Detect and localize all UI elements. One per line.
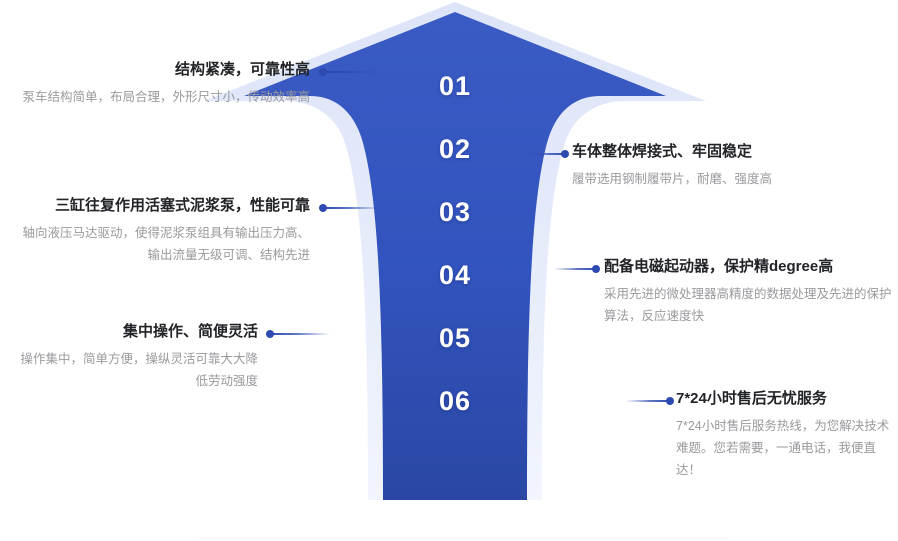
connector-dot xyxy=(319,68,327,76)
bottom-divider xyxy=(198,538,728,539)
step-number-06: 06 xyxy=(395,388,515,415)
feature-callout-04: 配备电磁起动器，保护精degree高 采用先进的微处理器高精度的数据处理及先进的… xyxy=(604,257,894,327)
feature-callout-01: 结构紧凑，可靠性高 泵车结构简单，布局合理，外形尺寸小，传动效率高 xyxy=(14,60,310,108)
feature-callout-06: 7*24小时售后无忧服务 7*24小时售后服务热线，为您解决技术难题。您若需要，… xyxy=(676,389,892,481)
feature-detail-03: 轴向液压马达驱动，使得泥浆泵组具有输出压力高、输出流量无级可调、结构先进 xyxy=(14,222,310,266)
connector-stroke xyxy=(626,400,670,402)
connector-dot xyxy=(666,397,674,405)
connector-line-03 xyxy=(323,207,381,209)
connector-stroke xyxy=(323,207,381,209)
step-number-03: 03 xyxy=(395,199,515,226)
feature-callout-05: 集中操作、简便灵活 操作集中，简单方便，操纵灵活可靠大大降低劳动强度 xyxy=(14,322,258,392)
step-number-05: 05 xyxy=(395,325,515,352)
connector-line-01 xyxy=(323,71,381,73)
connector-dot xyxy=(561,150,569,158)
infographic-canvas: 01 02 03 04 05 06 结构紧凑，可靠性高 泵车结构简单，布局合理，… xyxy=(0,0,898,541)
connector-stroke xyxy=(270,333,330,335)
connector-line-02 xyxy=(527,153,565,155)
feature-headline-04: 配备电磁起动器，保护精degree高 xyxy=(604,257,894,277)
feature-headline-05: 集中操作、简便灵活 xyxy=(14,322,258,342)
connector-dot xyxy=(592,265,600,273)
step-number-04: 04 xyxy=(395,262,515,289)
connector-dot xyxy=(266,330,274,338)
feature-callout-02: 车体整体焊接式、牢固稳定 履带选用钢制履带片，耐磨、强度高 xyxy=(572,142,892,190)
feature-detail-04: 采用先进的微处理器高精度的数据处理及先进的保护算法，反应速度快 xyxy=(604,283,894,327)
feature-detail-06: 7*24小时售后服务热线，为您解决技术难题。您若需要，一通电话，我便直达！ xyxy=(676,415,892,481)
connector-dot xyxy=(319,204,327,212)
connector-line-06 xyxy=(626,400,670,402)
feature-headline-01: 结构紧凑，可靠性高 xyxy=(14,60,310,80)
step-number-02: 02 xyxy=(395,136,515,163)
feature-detail-02: 履带选用钢制履带片，耐磨、强度高 xyxy=(572,168,892,190)
connector-line-04 xyxy=(554,268,596,270)
connector-stroke xyxy=(323,71,381,73)
feature-headline-06: 7*24小时售后无忧服务 xyxy=(676,389,892,409)
feature-callout-03: 三缸往复作用活塞式泥浆泵，性能可靠 轴向液压马达驱动，使得泥浆泵组具有输出压力高… xyxy=(14,196,310,266)
feature-headline-03: 三缸往复作用活塞式泥浆泵，性能可靠 xyxy=(14,196,310,216)
connector-stroke xyxy=(527,153,565,155)
step-number-01: 01 xyxy=(395,73,515,100)
connector-line-05 xyxy=(270,333,330,335)
feature-detail-05: 操作集中，简单方便，操纵灵活可靠大大降低劳动强度 xyxy=(14,348,258,392)
feature-headline-02: 车体整体焊接式、牢固稳定 xyxy=(572,142,892,162)
connector-stroke xyxy=(554,268,596,270)
feature-detail-01: 泵车结构简单，布局合理，外形尺寸小，传动效率高 xyxy=(14,86,310,108)
